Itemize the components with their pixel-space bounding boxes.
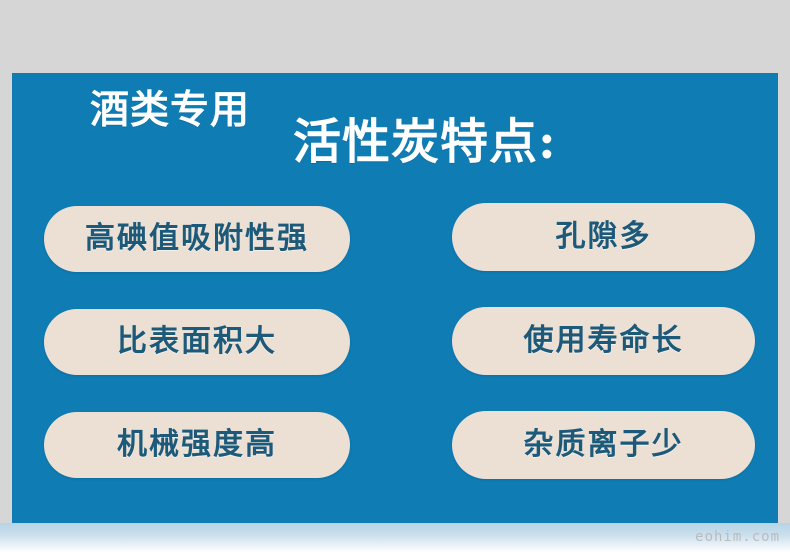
feature-pill-label: 使用寿命长 (524, 326, 684, 356)
feature-pill-left-2: 比表面积大 (44, 309, 350, 375)
page-title: 活性炭特点: (293, 118, 557, 166)
feature-pill-right-3: 杂质离子少 (452, 411, 755, 479)
feature-pill-right-1: 孔隙多 (452, 203, 755, 271)
site-watermark: eohim.com (695, 529, 780, 545)
feature-pill-left-1: 高碘值吸附性强 (44, 206, 350, 272)
feature-pill-label: 比表面积大 (117, 327, 277, 357)
feature-pill-left-3: 机械强度高 (44, 412, 350, 478)
feature-pill-label: 高碘值吸附性强 (85, 224, 309, 254)
feature-pill-label: 孔隙多 (556, 222, 652, 252)
promo-banner: 酒类专用 活性炭特点: 高碘值吸附性强 比表面积大 机械强度高 孔隙多 使用寿命… (0, 0, 790, 552)
subtitle-heading: 酒类专用 (90, 91, 250, 130)
feature-pill-label: 杂质离子少 (524, 430, 684, 460)
footer-gradient-band (0, 523, 790, 552)
feature-pill-label: 机械强度高 (117, 430, 277, 460)
feature-pill-right-2: 使用寿命长 (452, 307, 755, 375)
